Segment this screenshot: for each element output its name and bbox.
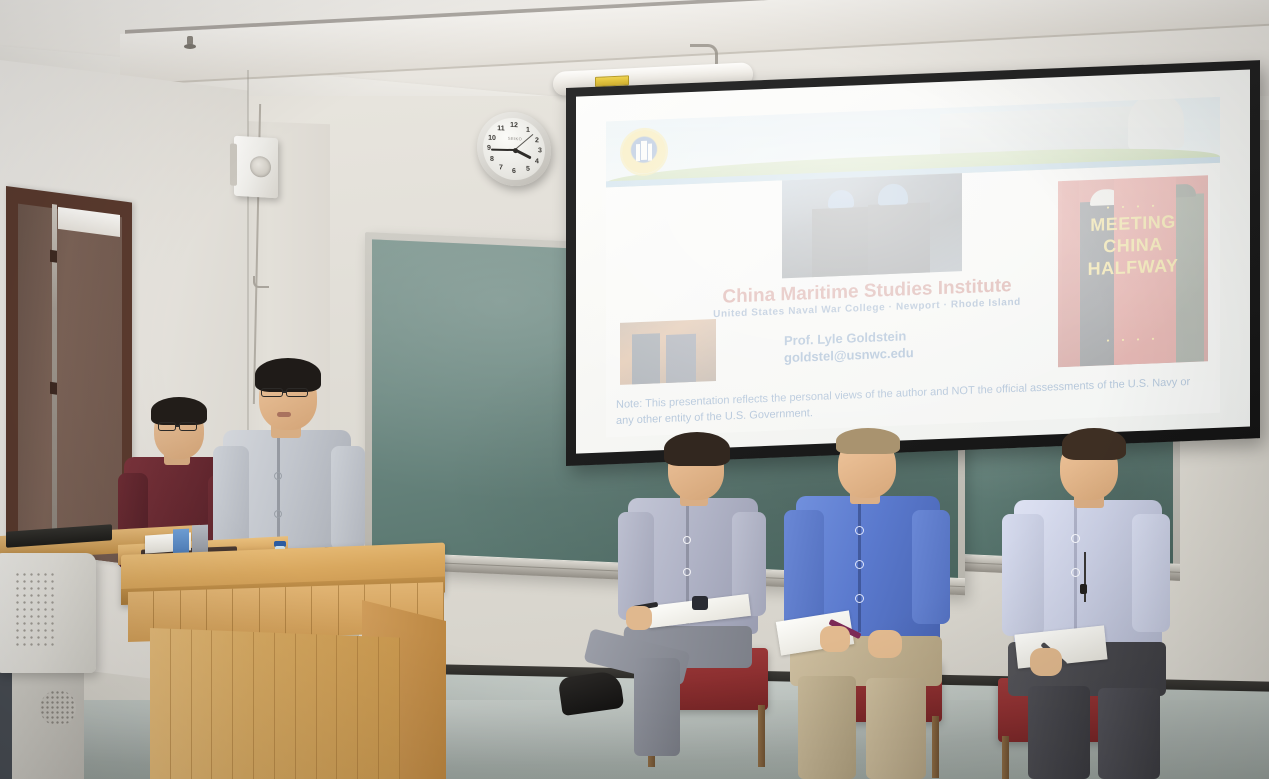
clock-numeral: 12: [509, 121, 519, 132]
panelist3-arm: [1002, 514, 1044, 636]
panelist2-shin: [866, 678, 926, 779]
panelist3-shin: [1098, 688, 1160, 779]
chair-leg: [1002, 736, 1009, 779]
sailor-helmet-icon: [878, 183, 908, 205]
book-cover-image: • • • • MEETING CHINA HALFWAY • • • •: [1058, 175, 1208, 367]
shirt-button-icon: [855, 560, 864, 569]
wall-speaker: [234, 136, 278, 199]
podium-body: [150, 628, 400, 779]
shirt-button-icon: [855, 594, 864, 603]
slide-disclaimer-note: Note: This presentation reflects the per…: [616, 373, 1210, 429]
lapel-mic-wire: [1084, 552, 1086, 602]
presentation-slide: • • • • MEETING CHINA HALFWAY • • • • Ch…: [606, 97, 1220, 438]
glasses-icon: [179, 422, 197, 431]
host-hair: [151, 397, 207, 425]
panelist1-hand: [626, 606, 652, 630]
speaker-mouth: [277, 412, 291, 417]
slide-presenter-block: Prof. Lyle Goldstein goldstel@usnwc.edu: [784, 323, 1024, 367]
wall-hook-icon: [253, 276, 269, 288]
glasses-bridge-icon: [176, 425, 180, 427]
glasses-icon: [261, 388, 283, 397]
clock-numeral: 2: [532, 136, 542, 147]
panelist2-arm: [784, 510, 824, 628]
clock-numeral: 5: [523, 164, 533, 175]
clock-numeral: 4: [532, 157, 542, 168]
panelist2-hand: [868, 630, 902, 658]
door-leaf[interactable]: [18, 204, 122, 564]
projection-screen: • • • • MEETING CHINA HALFWAY • • • • Ch…: [566, 60, 1260, 466]
panelist1-shin: [634, 658, 680, 756]
chair-leg: [758, 705, 765, 767]
panelist2-shin: [798, 676, 856, 779]
shirt-button-icon: [274, 510, 282, 518]
ceiling-sprinkler-icon: [184, 36, 196, 52]
lapel-mic-icon: [1080, 584, 1087, 594]
speaker-arm-right: [331, 446, 365, 550]
officials-handshake-photo: [620, 319, 716, 385]
sailor-helmet-icon: [828, 189, 854, 208]
clock-numeral: 3: [535, 146, 545, 157]
wristwatch-icon: [692, 596, 708, 610]
shirt-button-icon: [683, 536, 691, 544]
slide-banner-image: [606, 97, 1220, 188]
sailor-figure: [868, 202, 930, 274]
panelist3-hair: [1062, 428, 1126, 460]
clock-center-pin: [513, 148, 518, 153]
glasses-icon: [158, 422, 176, 431]
clock-numeral: 6: [509, 167, 519, 178]
panelist2-hair: [836, 428, 900, 454]
av-round-speaker-grille: [40, 690, 76, 726]
speaker-cone-icon: [250, 156, 271, 178]
shirt-button-icon: [274, 472, 282, 480]
clock-numeral: 7: [496, 163, 506, 174]
door-frame: [6, 186, 132, 565]
panelist3-shin: [1028, 686, 1090, 779]
av-speaker-cabinet: [0, 553, 96, 673]
clock-numeral: 11: [496, 124, 506, 135]
door-hinge-icon: [50, 250, 57, 263]
screen-surface: • • • • MEETING CHINA HALFWAY • • • • Ch…: [576, 70, 1250, 454]
chair-leg: [932, 716, 939, 778]
book-title-text: MEETING CHINA HALFWAY: [1058, 209, 1208, 281]
speaker-hair: [255, 358, 321, 392]
shirt-button-icon: [1071, 534, 1080, 543]
clock-face: SEIKO 12 1 2 3 4 5 6 7 8 9 10 11: [483, 116, 545, 181]
glasses-icon: [286, 388, 308, 397]
sailors-on-deck-photo: [782, 173, 962, 278]
speaker-bracket: [230, 143, 237, 185]
clock-numeral: 8: [487, 155, 497, 166]
av-speaker-grille: [14, 571, 54, 649]
door-hinge-icon: [50, 382, 57, 395]
panelist3-hand: [1030, 648, 1062, 676]
panelist2-hand: [820, 626, 850, 652]
panelist2-arm: [912, 510, 950, 624]
glasses-bridge-icon: [283, 391, 287, 393]
sailor-figure: [812, 207, 870, 277]
clock-minute-hand: [491, 149, 515, 151]
shirt-button-icon: [855, 526, 864, 535]
panelist1-hair: [664, 432, 730, 466]
shirt-button-icon: [683, 568, 691, 576]
official-figure: [666, 334, 696, 383]
shirt-button-icon: [1071, 568, 1080, 577]
clock-numeral: 10: [487, 134, 497, 145]
official-figure: [632, 333, 660, 384]
campus-dome-graphic: [1128, 97, 1184, 151]
conference-room-photo: SEIKO 12 1 2 3 4 5 6 7 8 9 10 11: [0, 0, 1269, 779]
panelist3-arm: [1132, 514, 1170, 632]
